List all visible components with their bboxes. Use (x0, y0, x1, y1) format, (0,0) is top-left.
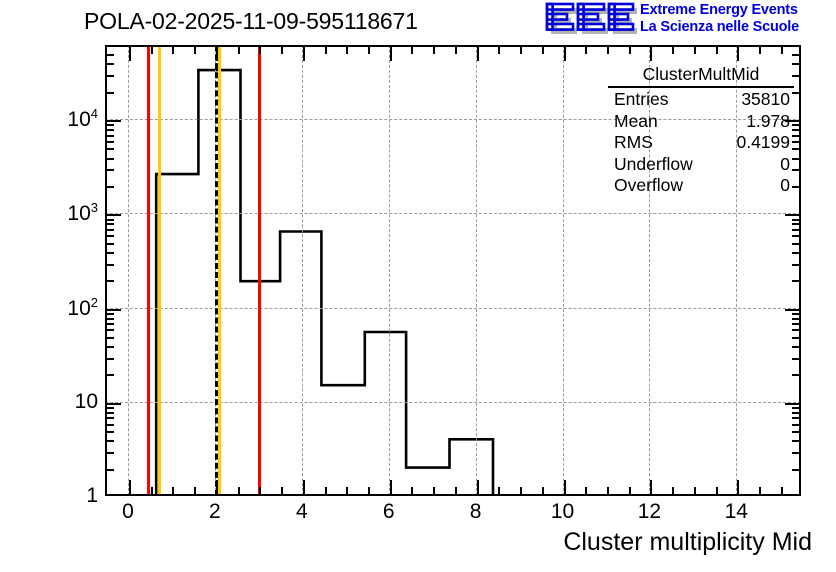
x-major-tick (737, 480, 739, 494)
plot-canvas: POLA-02-2025-11-09-595118671 (0, 0, 836, 572)
x-minor-tick (520, 487, 522, 494)
x-minor-tick (151, 47, 153, 54)
x-tick-label: 10 (551, 500, 574, 524)
eee-mark-icon (545, 2, 637, 38)
y-minor-tick (107, 54, 114, 56)
x-minor-tick (607, 47, 609, 54)
x-minor-tick (259, 47, 261, 54)
y-minor-tick (792, 329, 799, 331)
x-minor-tick (325, 487, 327, 494)
x-minor-tick (716, 47, 718, 54)
y-minor-tick (107, 169, 114, 171)
y-minor-tick (792, 452, 799, 454)
x-major-tick (650, 47, 652, 61)
x-minor-tick (607, 487, 609, 494)
y-minor-tick (107, 440, 114, 442)
x-minor-tick (542, 487, 544, 494)
x-minor-tick (498, 487, 500, 494)
y-minor-tick (107, 135, 114, 137)
x-minor-tick (585, 47, 587, 54)
y-minor-tick (107, 358, 114, 360)
y-tick-label: 103 (67, 200, 98, 226)
x-major-tick (129, 480, 131, 494)
y-minor-tick (792, 264, 799, 266)
y-axis-labels: 110102103104 (0, 0, 98, 572)
x-minor-tick (759, 487, 761, 494)
x-minor-tick (346, 487, 348, 494)
y-major-tick (107, 309, 121, 311)
x-tick-label: 0 (122, 500, 134, 524)
x-major-tick (129, 47, 131, 61)
x-minor-tick (281, 47, 283, 54)
x-minor-tick (346, 47, 348, 54)
x-tick-label: 14 (725, 500, 748, 524)
x-minor-tick (781, 47, 783, 54)
y-minor-tick (107, 313, 114, 315)
y-minor-tick (107, 75, 114, 77)
y-minor-tick (107, 374, 114, 376)
y-minor-tick (792, 318, 799, 320)
y-tick-label: 1 (86, 484, 98, 508)
y-minor-tick (107, 219, 114, 221)
y-minor-tick (107, 252, 114, 254)
y-minor-tick (107, 452, 114, 454)
y-minor-tick (107, 223, 114, 225)
y-minor-tick (792, 337, 799, 339)
x-minor-tick (629, 47, 631, 54)
y-minor-tick (107, 424, 114, 426)
y-major-tick (785, 403, 799, 405)
y-minor-tick (792, 252, 799, 254)
x-major-tick (390, 480, 392, 494)
y-minor-tick (792, 323, 799, 325)
x-major-tick (216, 480, 218, 494)
x-minor-tick (194, 47, 196, 54)
y-minor-tick (107, 329, 114, 331)
stats-row: Mean1.978 (608, 111, 794, 133)
x-major-tick (303, 480, 305, 494)
x-minor-tick (411, 47, 413, 54)
y-minor-tick (792, 358, 799, 360)
stats-row: Underflow0 (608, 154, 794, 176)
y-minor-tick (792, 374, 799, 376)
y-minor-tick (792, 243, 799, 245)
stats-key: Overflow (614, 175, 683, 197)
y-minor-tick (107, 280, 114, 282)
y-minor-tick (107, 431, 114, 433)
x-minor-tick (672, 487, 674, 494)
y-minor-tick (792, 424, 799, 426)
x-tick-label: 8 (470, 500, 482, 524)
x-tick-label: 6 (383, 500, 395, 524)
y-minor-tick (107, 124, 114, 126)
page-title: POLA-02-2025-11-09-595118671 (84, 8, 418, 35)
x-minor-tick (368, 487, 370, 494)
y-minor-tick (107, 264, 114, 266)
x-minor-tick (172, 487, 174, 494)
y-minor-tick (107, 63, 114, 65)
y-minor-tick (107, 412, 114, 414)
y-minor-tick (107, 148, 114, 150)
x-major-tick (303, 47, 305, 61)
x-major-tick (564, 480, 566, 494)
stats-key: Entries (614, 89, 668, 111)
y-minor-tick (107, 243, 114, 245)
stats-row: Overflow0 (608, 175, 794, 197)
x-major-tick (564, 47, 566, 61)
y-minor-tick (107, 235, 114, 237)
x-axis-title: Cluster multiplicity Mid (563, 528, 812, 557)
y-minor-tick (107, 417, 114, 419)
eee-logo-line2: La Scienza nelle Scuole (640, 19, 799, 36)
stats-row: RMS0.4199 (608, 132, 794, 154)
y-minor-tick (107, 186, 114, 188)
stats-value: 0.4199 (736, 132, 790, 154)
y-minor-tick (792, 229, 799, 231)
y-minor-tick (792, 412, 799, 414)
y-minor-tick (792, 235, 799, 237)
x-minor-tick (759, 47, 761, 54)
x-minor-tick (781, 487, 783, 494)
y-minor-tick (107, 323, 114, 325)
stats-title: ClusterMultMid (608, 64, 794, 88)
x-minor-tick (455, 487, 457, 494)
y-minor-tick (792, 417, 799, 419)
stats-rows: Entries35810Mean1.978RMS0.4199Underflow0… (608, 89, 794, 197)
y-minor-tick (792, 431, 799, 433)
y-minor-tick (792, 313, 799, 315)
stats-key: Mean (614, 111, 658, 133)
x-minor-tick (433, 47, 435, 54)
x-minor-tick (194, 487, 196, 494)
x-minor-tick (238, 47, 240, 54)
y-minor-tick (792, 219, 799, 221)
x-major-tick (477, 47, 479, 61)
x-minor-tick (455, 47, 457, 54)
x-minor-tick (520, 47, 522, 54)
x-minor-tick (498, 47, 500, 54)
y-minor-tick (107, 337, 114, 339)
stats-value: 35810 (741, 89, 790, 111)
x-minor-tick (585, 487, 587, 494)
y-minor-tick (792, 223, 799, 225)
y-minor-tick (107, 141, 114, 143)
x-tick-label: 4 (296, 500, 308, 524)
y-major-tick (107, 120, 121, 122)
stats-key: RMS (614, 132, 653, 154)
x-minor-tick (281, 487, 283, 494)
eee-logo-text: Extreme Energy Events La Scienza nelle S… (640, 2, 799, 36)
x-minor-tick (542, 47, 544, 54)
y-minor-tick (107, 469, 114, 471)
y-major-tick (785, 309, 799, 311)
x-minor-tick (694, 47, 696, 54)
y-major-tick (785, 214, 799, 216)
x-minor-tick (238, 487, 240, 494)
x-major-tick (650, 480, 652, 494)
stats-box: ClusterMultMid Entries35810Mean1.978RMS0… (608, 64, 794, 197)
x-minor-tick (172, 47, 174, 54)
y-minor-tick (107, 229, 114, 231)
y-minor-tick (792, 54, 799, 56)
y-minor-tick (107, 407, 114, 409)
stats-row: Entries35810 (608, 89, 794, 111)
x-minor-tick (368, 47, 370, 54)
y-major-tick (107, 214, 121, 216)
y-minor-tick (107, 158, 114, 160)
y-minor-tick (107, 129, 114, 131)
y-minor-tick (792, 440, 799, 442)
stats-value: 0 (780, 175, 790, 197)
y-minor-tick (107, 92, 114, 94)
x-major-tick (737, 47, 739, 61)
x-major-tick (390, 47, 392, 61)
x-minor-tick (433, 487, 435, 494)
stats-key: Underflow (614, 154, 693, 176)
y-tick-label: 102 (67, 295, 98, 321)
x-tick-label: 2 (209, 500, 221, 524)
eee-logo: Extreme Energy Events La Scienza nelle S… (545, 1, 835, 43)
y-minor-tick (792, 469, 799, 471)
x-minor-tick (151, 487, 153, 494)
y-minor-tick (792, 280, 799, 282)
y-tick-label: 10 (75, 390, 98, 414)
x-minor-tick (716, 487, 718, 494)
x-major-tick (477, 480, 479, 494)
x-minor-tick (629, 487, 631, 494)
x-minor-tick (259, 487, 261, 494)
x-tick-label: 12 (638, 500, 661, 524)
x-minor-tick (694, 487, 696, 494)
eee-logo-line1: Extreme Energy Events (640, 2, 799, 19)
y-tick-label: 104 (67, 106, 98, 132)
y-minor-tick (792, 407, 799, 409)
y-minor-tick (792, 346, 799, 348)
y-minor-tick (107, 318, 114, 320)
x-minor-tick (672, 47, 674, 54)
stats-value: 0 (780, 154, 790, 176)
x-major-tick (216, 47, 218, 61)
x-minor-tick (411, 487, 413, 494)
y-major-tick (107, 403, 121, 405)
y-minor-tick (107, 346, 114, 348)
x-minor-tick (325, 47, 327, 54)
stats-value: 1.978 (746, 111, 790, 133)
